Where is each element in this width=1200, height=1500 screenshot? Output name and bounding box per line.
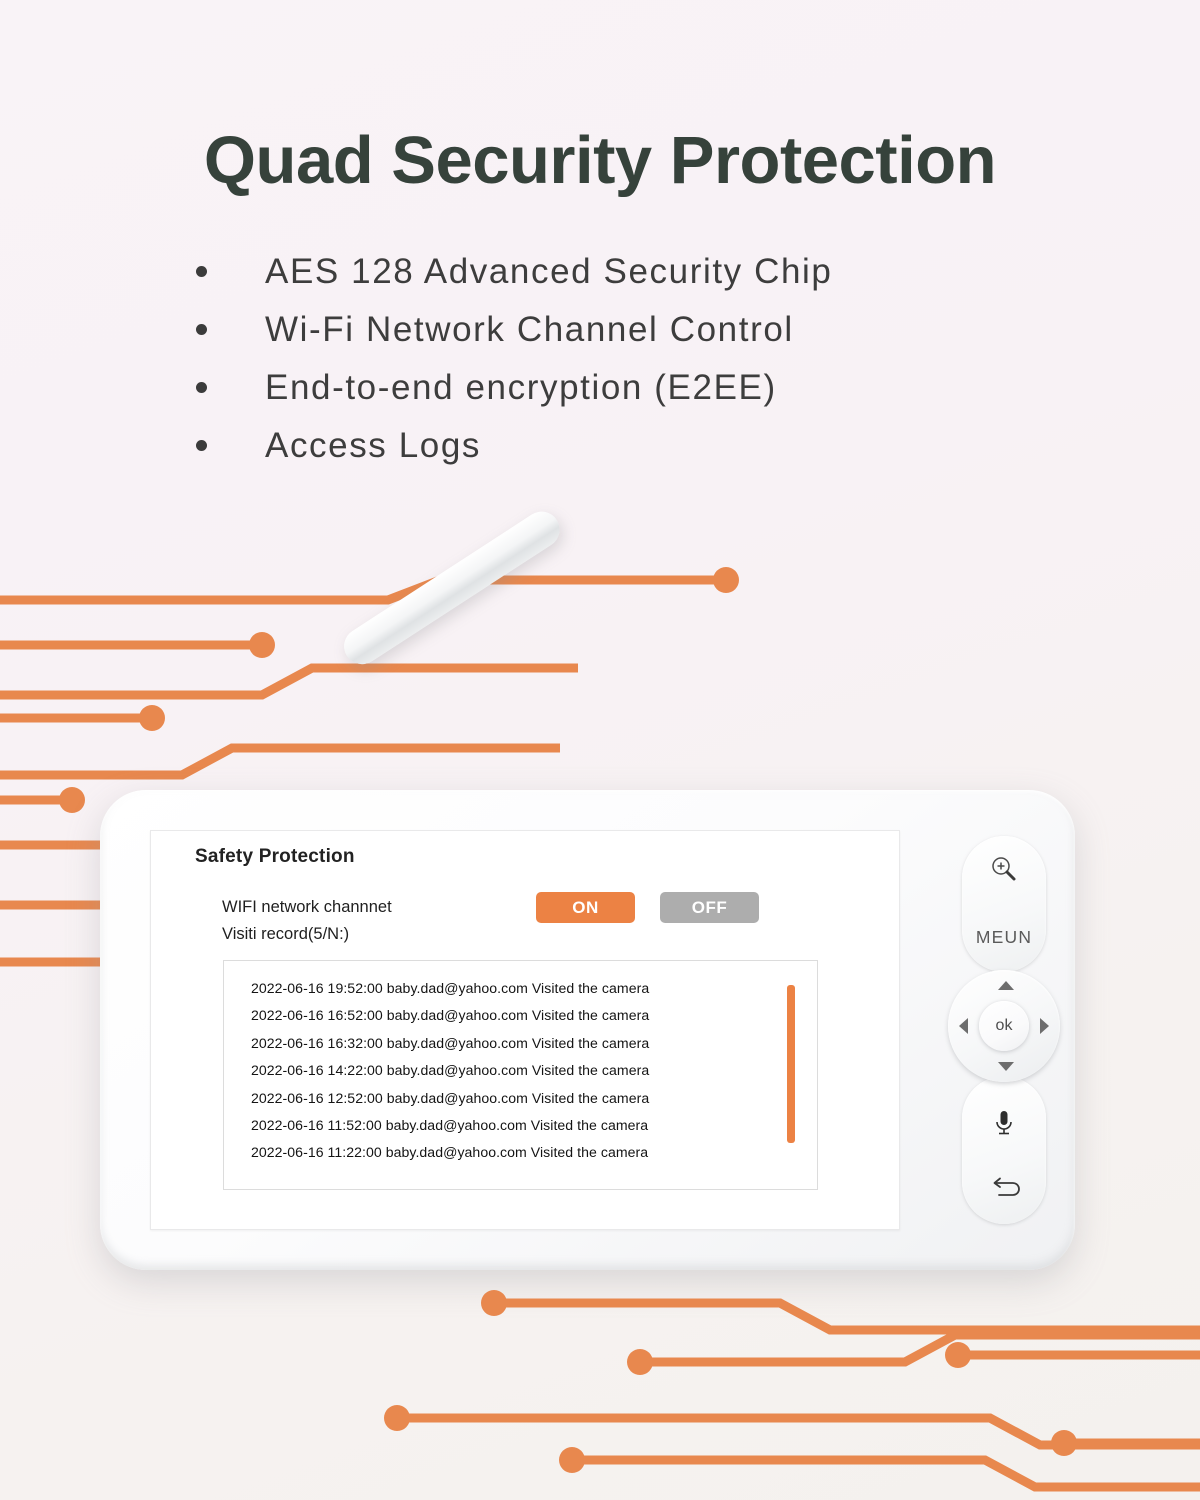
list-item: 2022-06-16 16:52:00 baby.dad@yahoo.com V… — [251, 1002, 817, 1029]
log-scrollbar[interactable] — [787, 985, 795, 1143]
zoom-in-button[interactable] — [962, 836, 1046, 902]
list-item: 2022-06-16 12:52:00 baby.dad@yahoo.com V… — [251, 1085, 817, 1112]
access-log-panel[interactable]: 2022-06-16 19:52:00 baby.dad@yahoo.com V… — [223, 960, 818, 1190]
arrow-up-icon[interactable] — [998, 981, 1014, 990]
access-log-list: 2022-06-16 19:52:00 baby.dad@yahoo.com V… — [251, 975, 817, 1167]
page-title: Quad Security Protection — [0, 124, 1200, 198]
list-item: Access Logs — [196, 424, 1036, 468]
wifi-toggle-on-button[interactable]: ON — [536, 892, 635, 923]
antenna — [337, 505, 566, 671]
feature-bullet-list: AES 128 Advanced Security Chip Wi-Fi Net… — [196, 250, 1036, 468]
device-screen: Safety Protection WIFI network channnet … — [150, 830, 900, 1230]
headline-section: Quad Security Protection AES 128 Advance… — [0, 0, 1200, 482]
wifi-toggle-off-button[interactable]: OFF — [660, 892, 759, 923]
microphone-icon — [991, 1108, 1017, 1138]
list-item: 2022-06-16 16:32:00 baby.dad@yahoo.com V… — [251, 1030, 817, 1057]
arrow-right-icon[interactable] — [1040, 1018, 1049, 1034]
menu-button[interactable]: MEUN — [962, 902, 1046, 972]
arrow-down-icon[interactable] — [998, 1062, 1014, 1071]
arrow-left-icon[interactable] — [959, 1018, 968, 1034]
list-item: 2022-06-16 14:22:00 baby.dad@yahoo.com V… — [251, 1057, 817, 1084]
back-button[interactable] — [962, 1156, 1046, 1222]
list-item: AES 128 Advanced Security Chip — [196, 250, 1036, 294]
dpad: ok — [948, 970, 1060, 1082]
bullet-label: AES 128 Advanced Security Chip — [265, 250, 832, 294]
list-item: 2022-06-16 19:52:00 baby.dad@yahoo.com V… — [251, 975, 817, 1002]
bullet-dot-icon — [196, 324, 207, 335]
bullet-dot-icon — [196, 440, 207, 451]
ok-button[interactable]: ok — [979, 1001, 1029, 1051]
wifi-channel-label: WIFI network channnet — [222, 898, 392, 917]
list-item: Wi-Fi Network Channel Control — [196, 308, 1036, 352]
voice-talk-button[interactable] — [962, 1090, 1046, 1156]
list-item: End-to-end encryption (E2EE) — [196, 366, 1036, 410]
screen-title: Safety Protection — [195, 846, 355, 868]
bullet-label: Access Logs — [265, 424, 481, 468]
control-cluster: MEUN ok — [948, 830, 1060, 1230]
bullet-dot-icon — [196, 266, 207, 277]
list-item: 2022-06-16 11:22:00 baby.dad@yahoo.com V… — [251, 1139, 817, 1166]
zoom-in-icon — [989, 854, 1019, 884]
visit-record-label: Visiti record(5/N:) — [222, 925, 349, 944]
list-item: 2022-06-16 11:52:00 baby.dad@yahoo.com V… — [251, 1112, 817, 1139]
bullet-label: Wi-Fi Network Channel Control — [265, 308, 794, 352]
bullet-label: End-to-end encryption (E2EE) — [265, 366, 777, 410]
bullet-dot-icon — [196, 382, 207, 393]
back-arrow-icon — [987, 1176, 1021, 1202]
baby-monitor-device: MIC Safety Protection WIFI network chann… — [100, 790, 1075, 1270]
